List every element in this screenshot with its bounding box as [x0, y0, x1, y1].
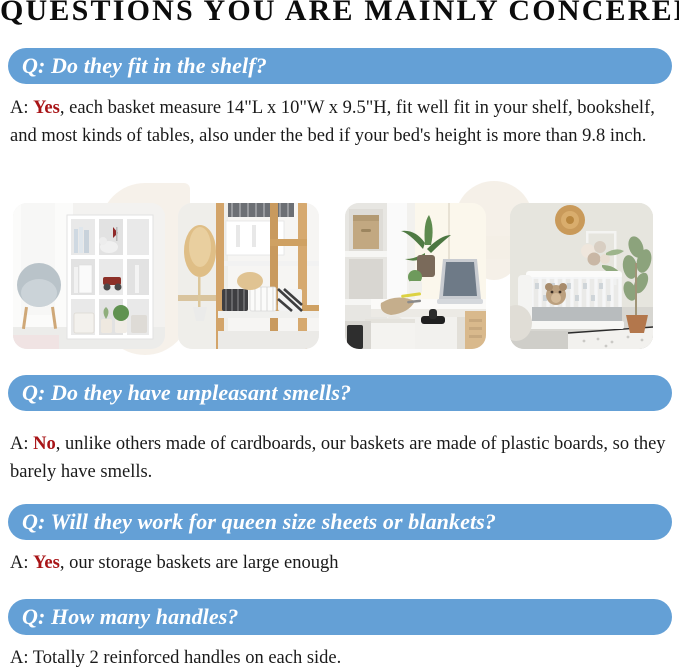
bookshelf-illustration — [13, 203, 165, 349]
answer-highlight-1: Yes — [33, 98, 60, 118]
question-bar-1: Q: Do they fit in the shelf? — [8, 48, 672, 84]
faq-page: QUESTIONS YOU ARE MAINLY CONCERED Q: Do … — [0, 0, 679, 671]
bunk-bed-illustration — [178, 203, 319, 349]
question-bar-2: Q: Do they have unpleasant smells? — [8, 375, 672, 411]
question-bar-4: Q: How many handles? — [8, 599, 672, 635]
answer-highlight-3: Yes — [33, 553, 60, 573]
nursery-illustration — [510, 203, 653, 349]
answer-highlight-2: No — [33, 434, 56, 454]
gallery-photo-bunk-bed — [178, 203, 319, 349]
answer-prefix-4: A: Totally 2 reinforced handles on each … — [10, 648, 341, 668]
answer-rest-3: , our storage baskets are large enough — [60, 553, 339, 573]
answer-rest-2: , unlike others made of cardboards, our … — [10, 434, 666, 482]
gallery-photo-home-office — [345, 203, 486, 349]
answer-prefix-2: A: — [10, 434, 33, 454]
question-bar-3: Q: Will they work for queen size sheets … — [8, 504, 672, 540]
answer-text-3: A: Yes, our storage baskets are large en… — [10, 549, 672, 577]
question-label-2: Q: Do they have unpleasant smells? — [22, 380, 351, 406]
answer-rest-1: , each basket measure 14"L x 10"W x 9.5"… — [10, 98, 655, 146]
answer-text-2: A: No, unlike others made of cardboards,… — [10, 430, 672, 486]
answer-prefix-1: A: — [10, 98, 33, 118]
answer-prefix-3: A: — [10, 553, 33, 573]
answer-text-4: A: Totally 2 reinforced handles on each … — [10, 644, 672, 671]
page-title: QUESTIONS YOU ARE MAINLY CONCERED — [0, 0, 679, 31]
gallery-photo-nursery — [510, 203, 653, 349]
question-label-1: Q: Do they fit in the shelf? — [22, 53, 267, 79]
gallery-photo-bookshelf — [13, 203, 165, 349]
home-office-illustration — [345, 203, 486, 349]
question-label-4: Q: How many handles? — [22, 604, 239, 630]
question-label-3: Q: Will they work for queen size sheets … — [22, 509, 496, 535]
answer-text-1: A: Yes, each basket measure 14"L x 10"W … — [10, 94, 672, 150]
